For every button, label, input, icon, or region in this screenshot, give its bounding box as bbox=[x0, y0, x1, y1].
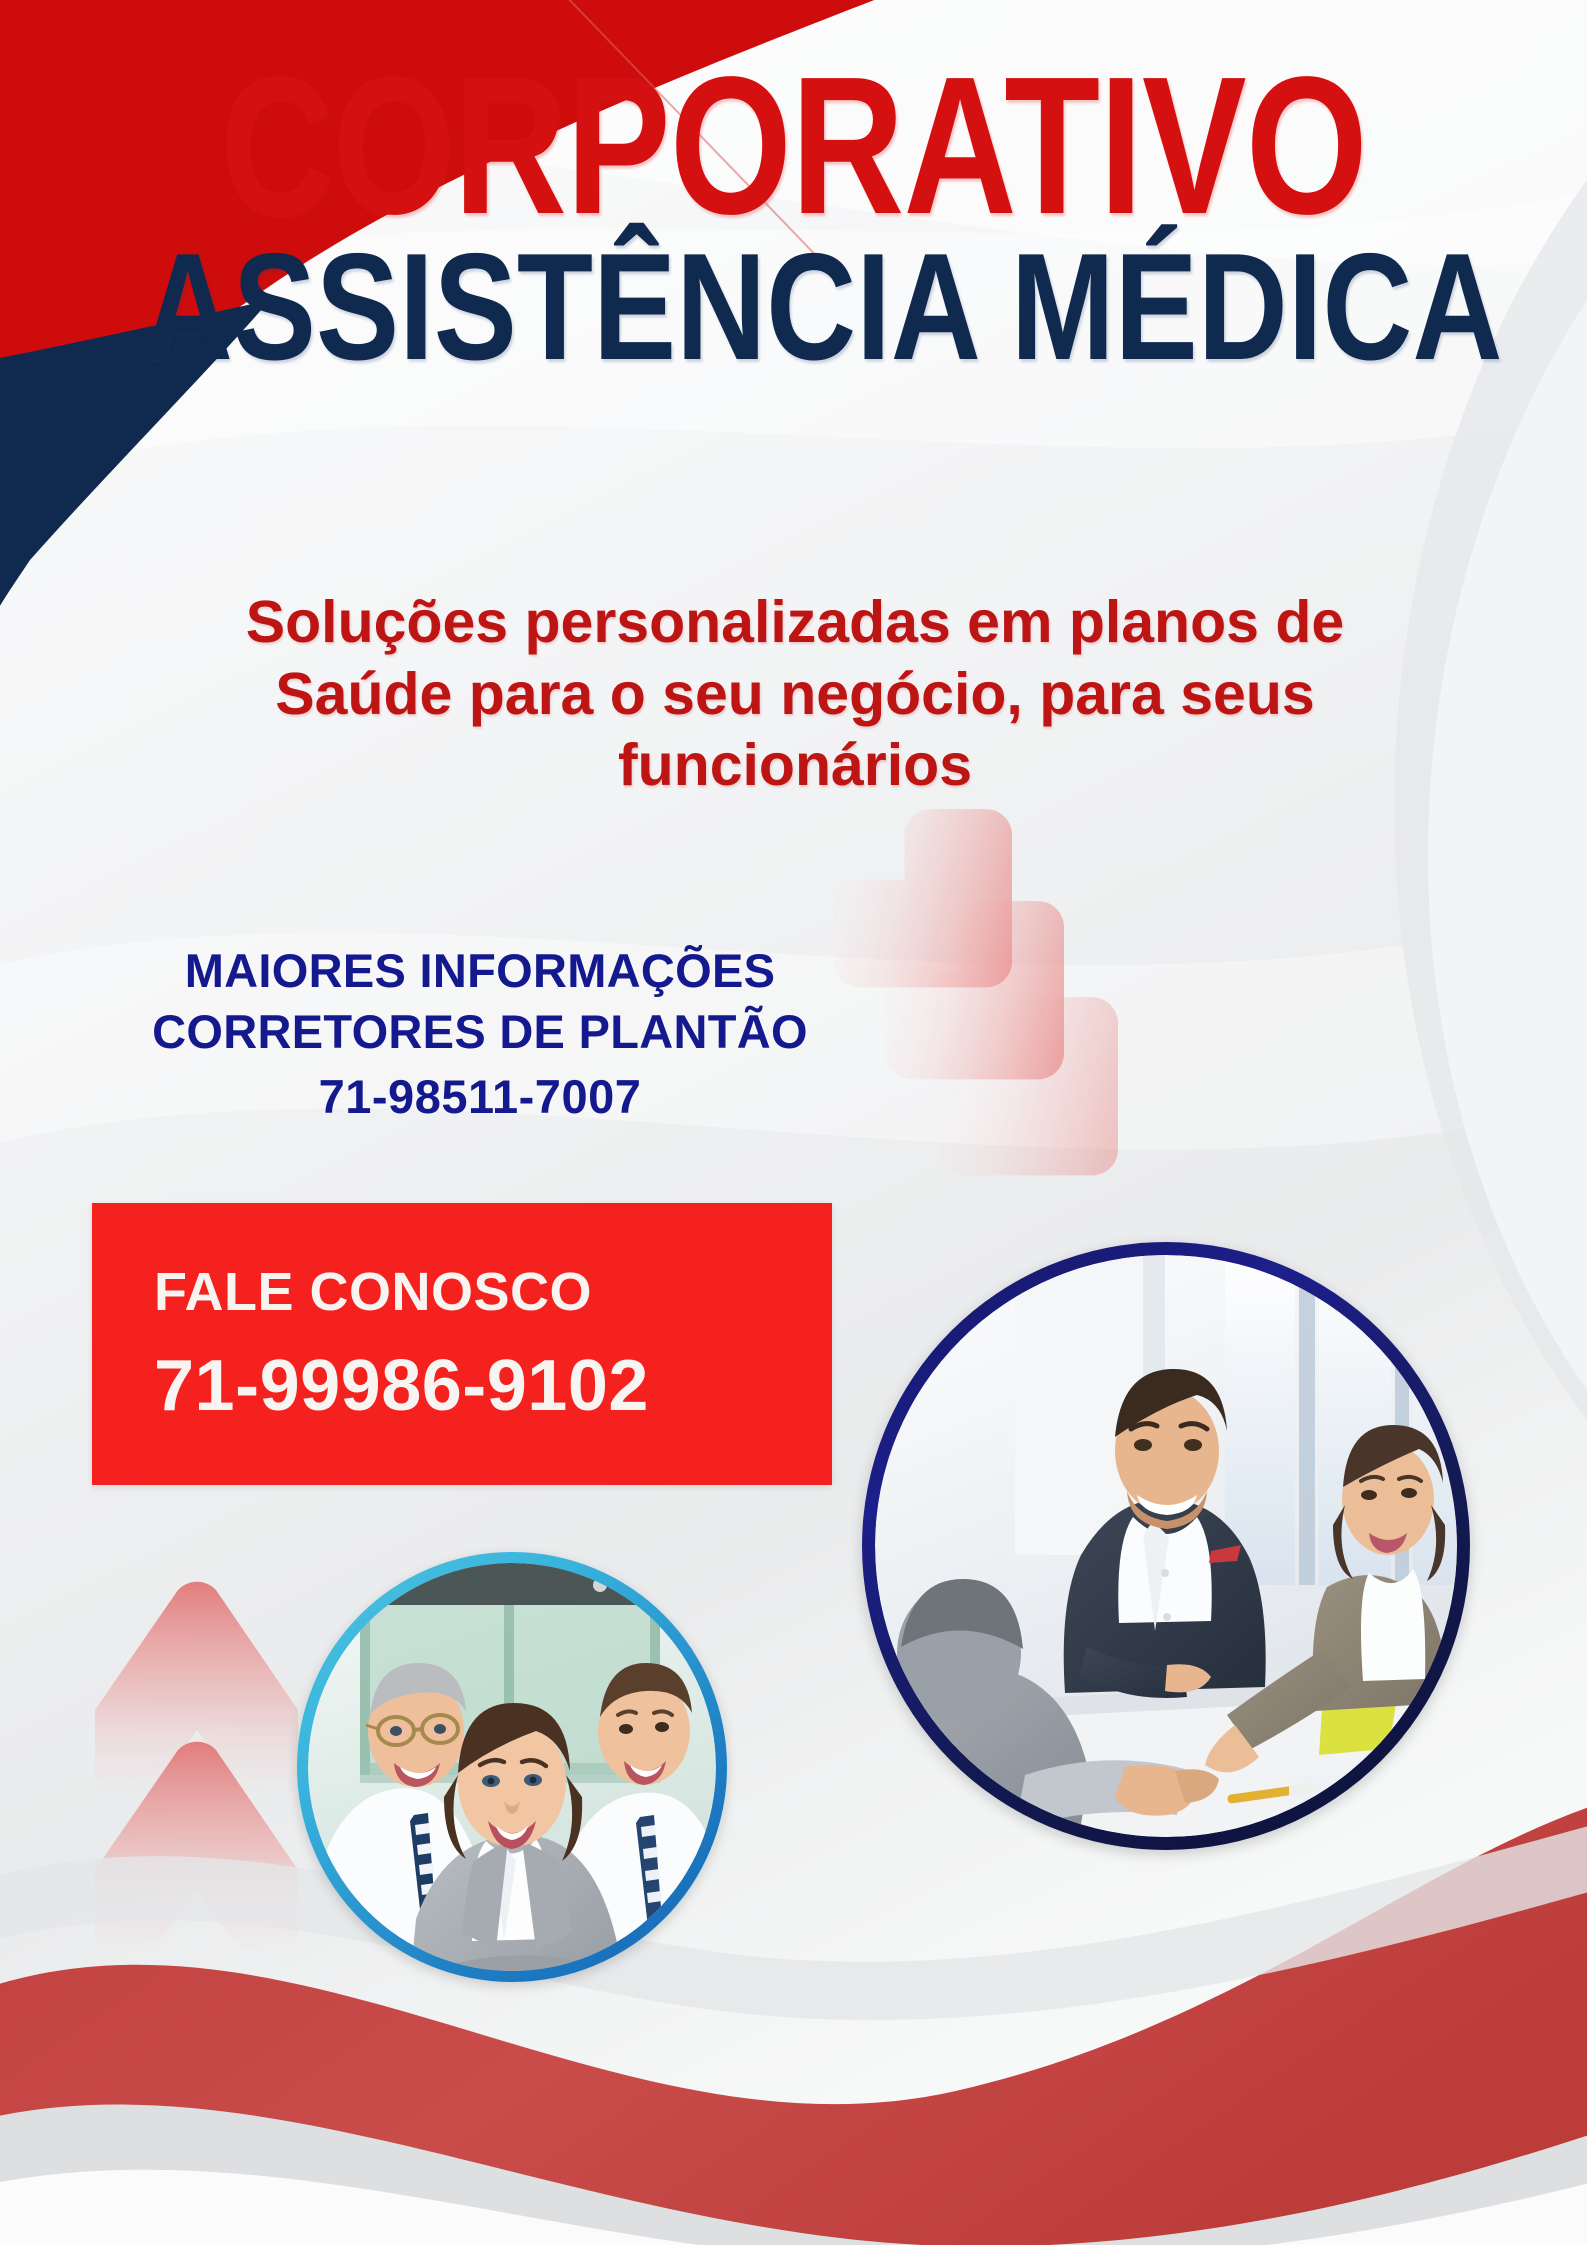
cta-banner-phone[interactable]: 71-99986-9102 bbox=[154, 1345, 832, 1427]
contact-phone-brokers[interactable]: 71-98511-7007 bbox=[120, 1066, 840, 1127]
cta-banner[interactable]: FALE CONOSCO 71-99986-9102 bbox=[92, 1203, 832, 1485]
business-handshake-illustration bbox=[875, 1255, 1457, 1837]
contact-info-block: MAIORES INFORMAÇÕES CORRETORES DE PLANTÃ… bbox=[120, 940, 840, 1127]
headline-group: CORPORATIVO ASSISTÊNCIA MÉDICA bbox=[0, 60, 1587, 378]
business-team-illustration bbox=[308, 1563, 716, 1971]
business-team-photo bbox=[297, 1552, 727, 1982]
business-handshake-photo bbox=[862, 1242, 1470, 1850]
poster-canvas: CORPORATIVO ASSISTÊNCIA MÉDICA Soluções … bbox=[0, 0, 1587, 2245]
business-handshake-photo-inner bbox=[875, 1255, 1457, 1837]
business-team-photo-inner bbox=[308, 1563, 716, 1971]
tagline-line-1: Soluções personalizadas em planos de bbox=[140, 588, 1450, 658]
tagline-line-3: funcionários bbox=[140, 731, 1450, 801]
contact-line-more-info: MAIORES INFORMAÇÕES bbox=[120, 940, 840, 1001]
cta-banner-label: FALE CONOSCO bbox=[154, 1261, 832, 1323]
page-title-secondary: ASSISTÊNCIA MÉDICA bbox=[143, 238, 1444, 378]
contact-line-brokers: CORRETORES DE PLANTÃO bbox=[120, 1001, 840, 1062]
page-title-primary: CORPORATIVO bbox=[159, 60, 1429, 232]
tagline-line-2: Saúde para o seu negócio, para seus bbox=[140, 660, 1450, 730]
tagline-paragraph: Soluções personalizadas em planos de Saú… bbox=[140, 588, 1450, 803]
